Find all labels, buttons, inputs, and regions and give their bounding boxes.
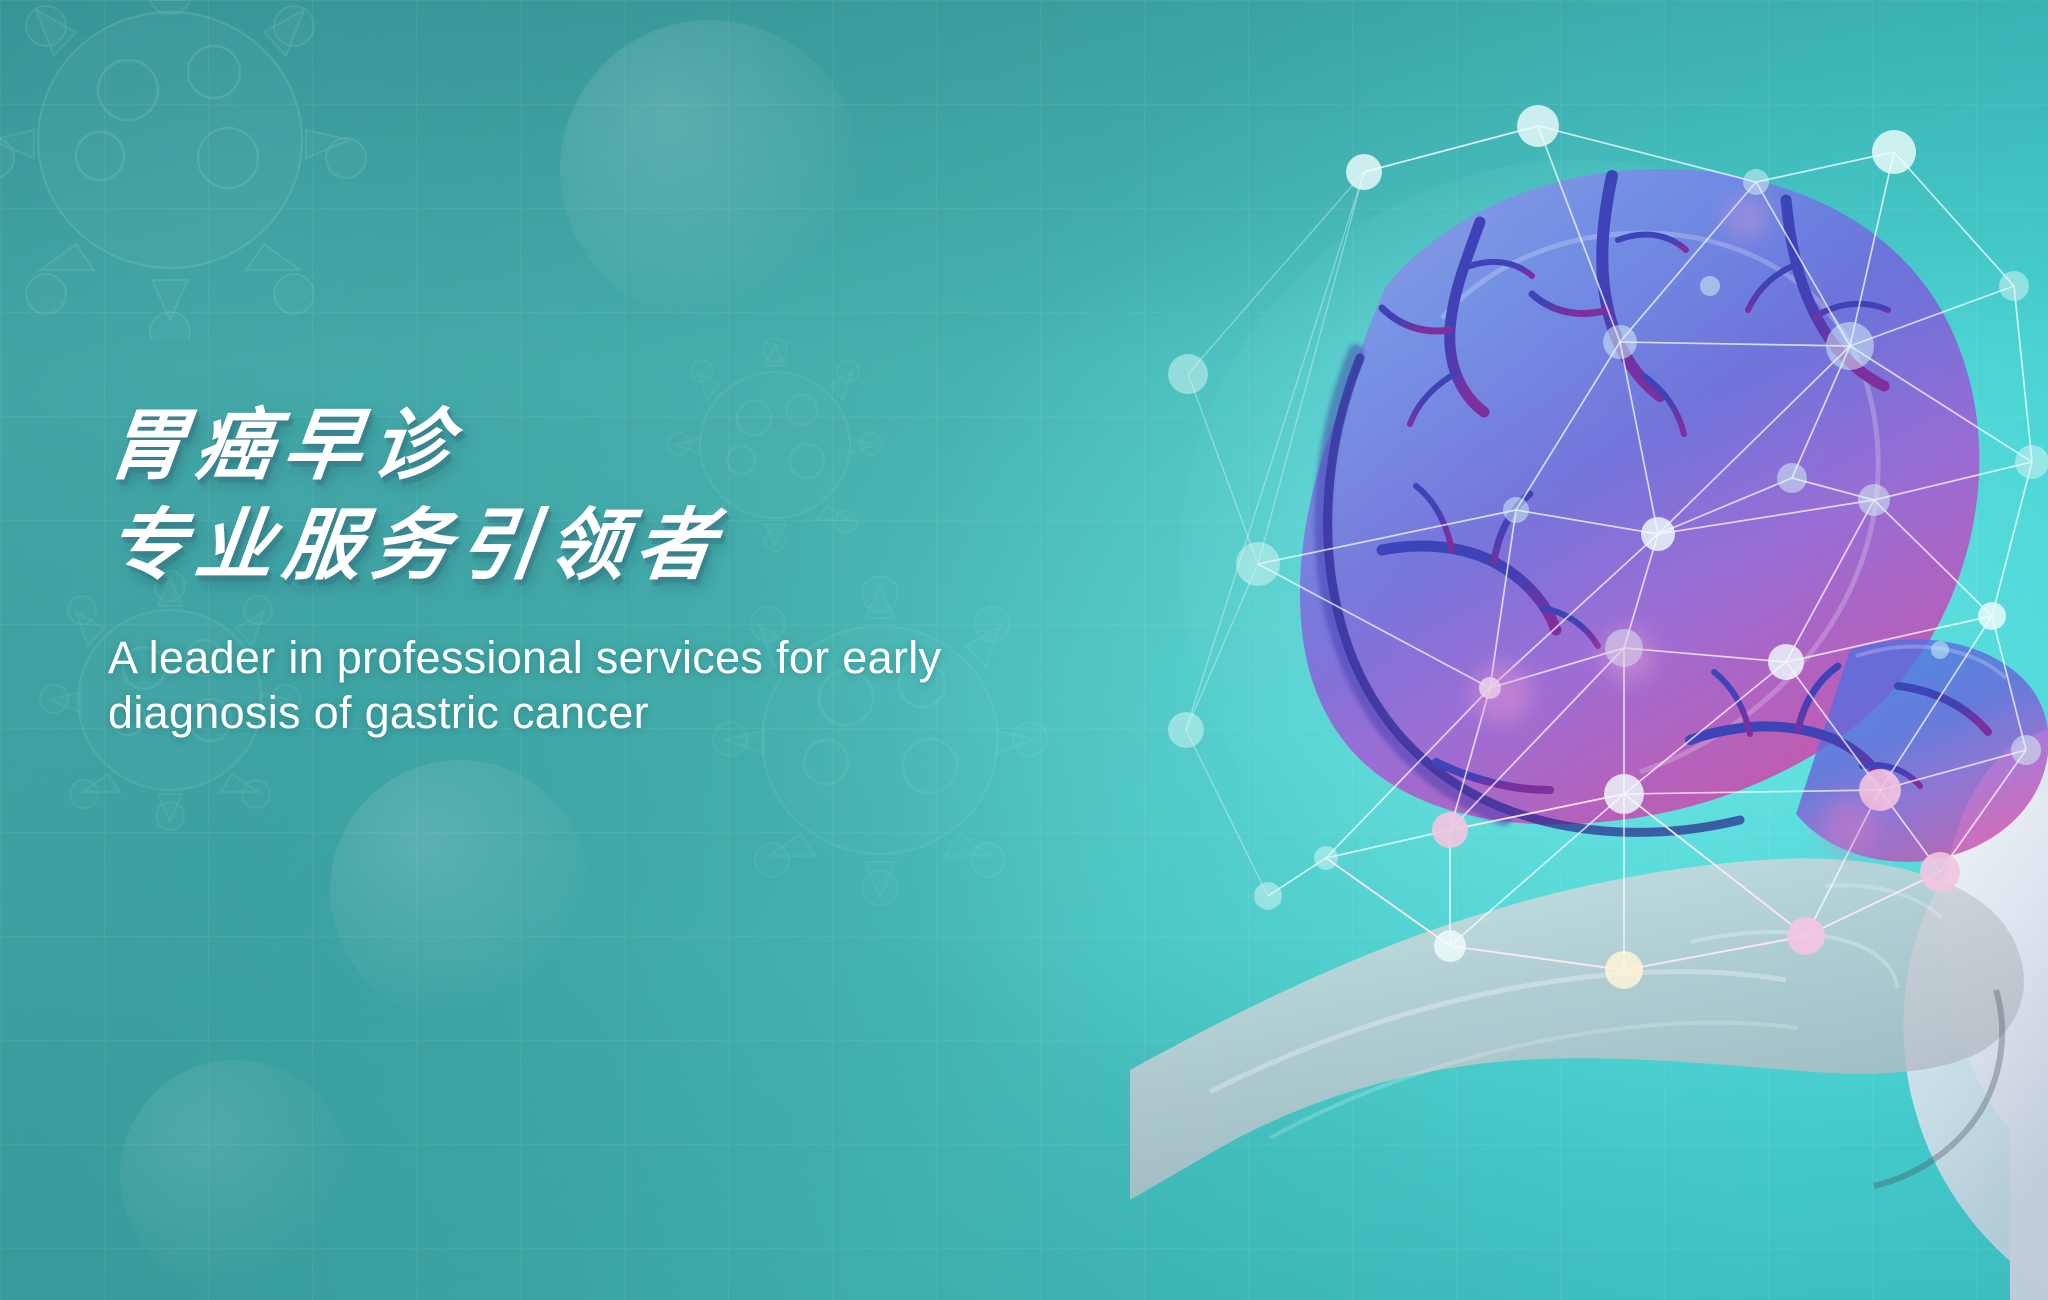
headline-chinese-line-1: 胃癌早诊: [103, 405, 1143, 485]
headline-chinese-line-2: 专业服务引领者: [103, 505, 1143, 585]
hero-copy: 胃癌早诊 专业服务引领者 A leader in professional se…: [108, 405, 1138, 741]
bokeh-blob: [120, 1060, 350, 1290]
subtitle-english: A leader in professional services for ea…: [108, 630, 1138, 742]
subtitle-english-line-1: A leader in professional services for ea…: [108, 630, 1138, 686]
stomach-hologram-illustration: [1150, 90, 2048, 1300]
banner-hero: 胃癌早诊 专业服务引领者 A leader in professional se…: [0, 0, 2048, 1300]
bokeh-blob: [330, 760, 590, 1020]
bokeh-blob: [560, 20, 860, 320]
virus-watermark-icon: [0, 0, 380, 340]
subtitle-english-line-2: diagnosis of gastric cancer: [108, 685, 1138, 741]
